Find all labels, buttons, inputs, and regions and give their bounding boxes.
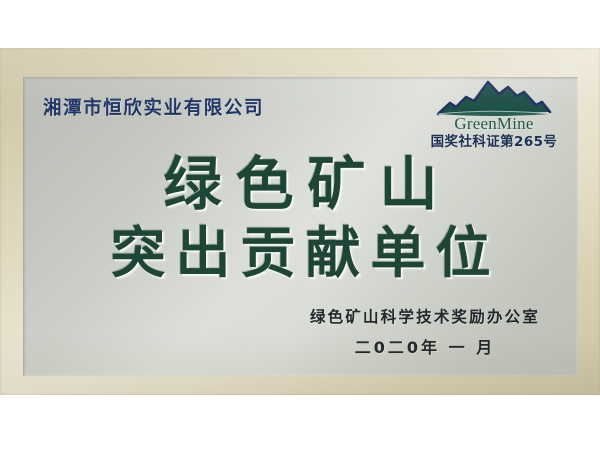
plaque-photo: 湘潭市恒欣实业有限公司 GreenMine 国奖社科证第265号 绿色矿山 — [0, 0, 600, 450]
company-name: 湘潭市恒欣实业有限公司 — [43, 94, 264, 120]
award-title-line-1: 绿色矿山 — [23, 149, 578, 219]
issue-date: 二0二0年 一 月 — [290, 334, 560, 358]
award-title: 绿色矿山 突出贡献单位 — [23, 149, 578, 287]
award-title-line-2: 突出贡献单位 — [23, 219, 578, 287]
issuing-office: 绿色矿山科学技术奖励办公室 — [290, 305, 560, 327]
plaque-inner-panel: 湘潭市恒欣实业有限公司 GreenMine 国奖社科证第265号 绿色矿山 — [23, 77, 578, 376]
greenmine-wordmark: GreenMine — [422, 115, 566, 132]
greenmine-mountain-icon — [436, 78, 552, 118]
greenmine-logo: GreenMine 国奖社科证第265号 — [422, 78, 566, 151]
issuer-block: 绿色矿山科学技术奖励办公室 二0二0年 一 月 — [290, 305, 560, 358]
plaque-outer-frame: 湘潭市恒欣实业有限公司 GreenMine 国奖社科证第265号 绿色矿山 — [0, 48, 600, 395]
